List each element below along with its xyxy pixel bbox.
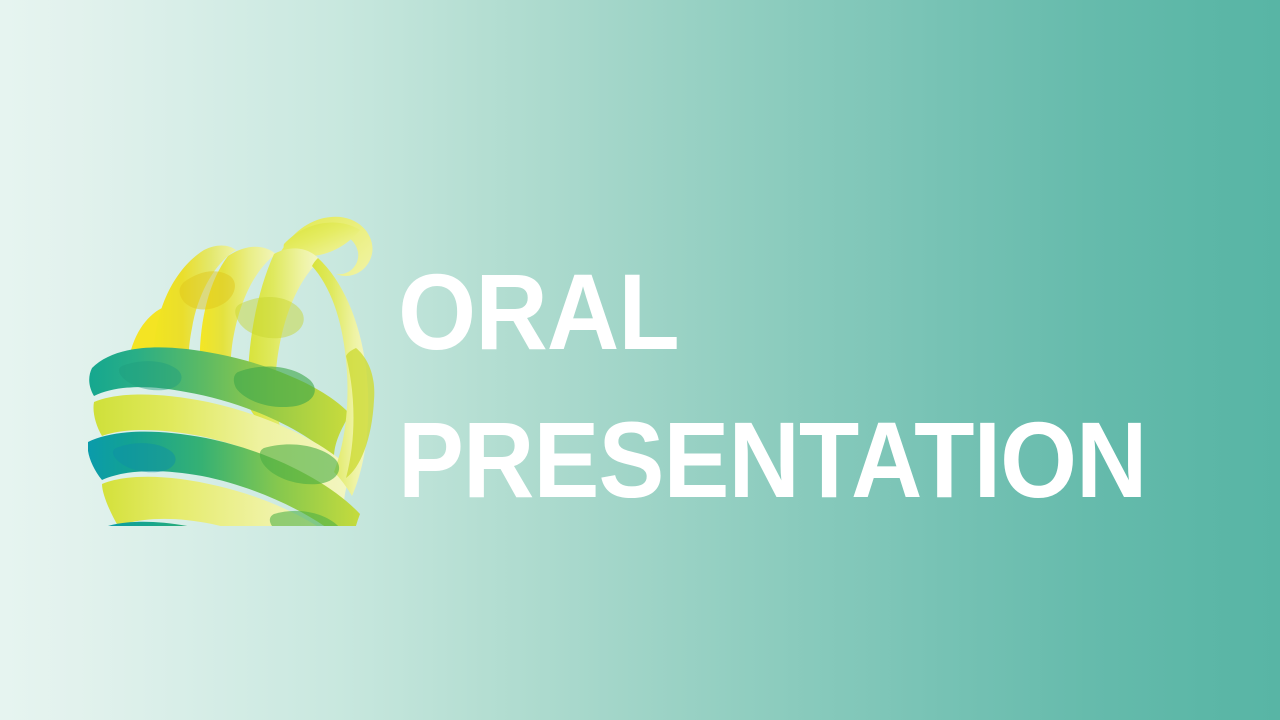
- title-line-oral: ORAL: [398, 238, 1161, 386]
- globe-ribbon-logo: [88, 196, 384, 526]
- presentation-slide: ORAL PRESENTATION: [0, 0, 1280, 720]
- title-line-presentation: PRESENTATION: [398, 386, 1148, 534]
- slide-title-block: ORAL PRESENTATION: [398, 238, 1218, 534]
